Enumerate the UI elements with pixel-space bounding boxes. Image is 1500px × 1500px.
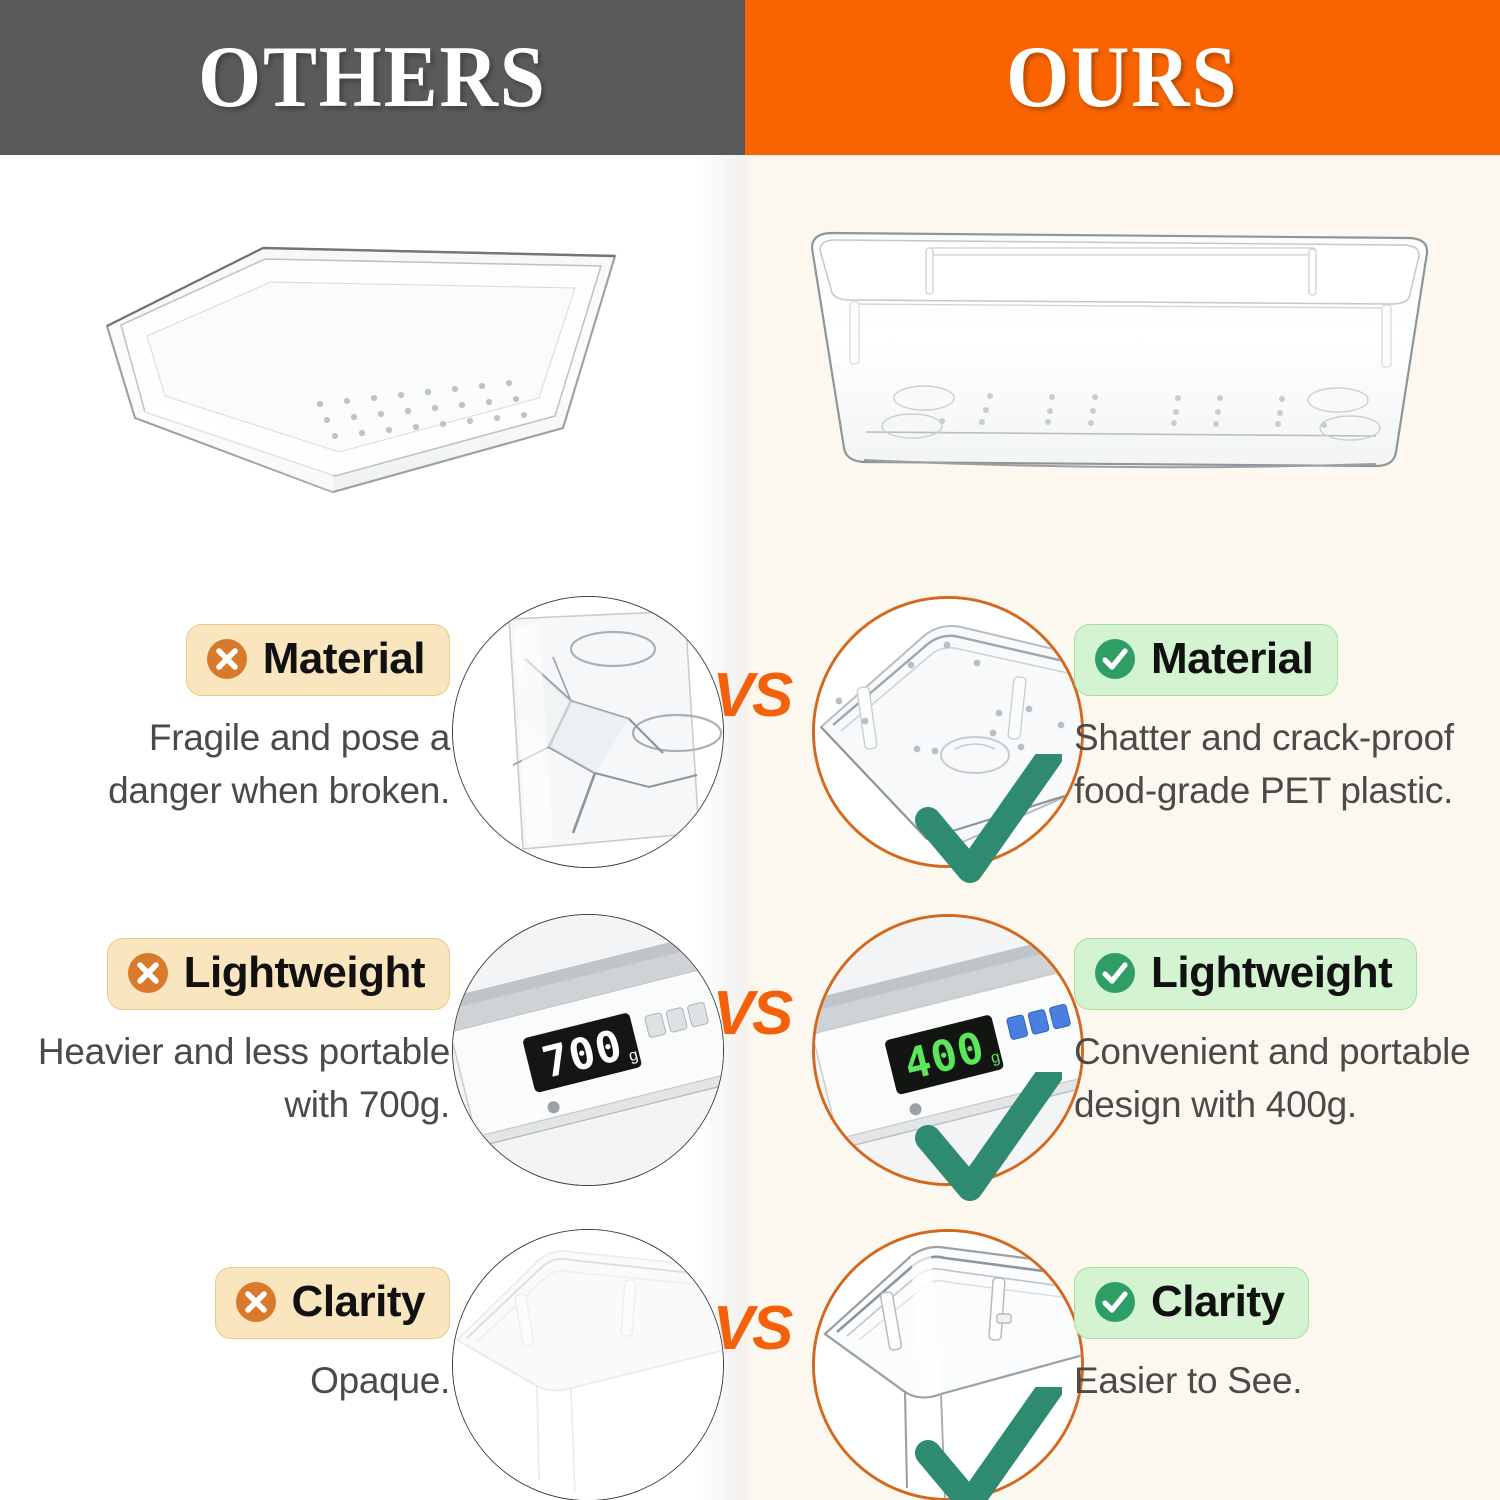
vs-label-material: VS [697,660,807,731]
clarity-others-text-block: Clarity Opaque. [30,1205,450,1500]
material-others-description: Fragile and pose a danger when broken. [30,712,450,817]
comparison-row-clarity: Clarity Opaque. [0,1205,1500,1500]
lightweight-ours-badge-label: Lightweight [1151,948,1392,998]
clarity-others-badge-label: Clarity [292,1277,425,1327]
comparison-row-material: Material Fragile and pose a danger when … [0,572,1500,892]
ours-product-image [790,220,1450,485]
circle-x-icon [126,951,170,995]
lightweight-others-description: Heavier and less portable with 700g. [30,1026,450,1131]
header-others: OTHERS [0,0,745,155]
hero-product-section [0,155,1500,585]
circle-check-icon [1093,637,1137,681]
material-ours-photo [812,596,1084,868]
comparison-infographic: OTHERS OURS [0,0,1500,1500]
clarity-ours-description: Easier to See. [1074,1355,1494,1408]
material-others-photo [452,596,724,868]
clarity-ours-badge-label: Clarity [1151,1277,1284,1327]
lightweight-ours-badge: Lightweight [1074,938,1417,1010]
vs-label-clarity: VS [697,1293,807,1364]
header-bar: OTHERS OURS [0,0,1500,155]
lightweight-others-badge: Lightweight [107,938,450,1010]
material-ours-description: Shatter and crack-proof food-grade PET p… [1074,712,1494,817]
circle-check-icon [1093,1280,1137,1324]
header-others-title: OTHERS [198,27,546,128]
lightweight-others-photo: 700 g [452,914,724,1186]
lightweight-others-text-block: Lightweight Heavier and less portable wi… [30,890,450,1210]
material-ours-badge: Material [1074,624,1338,696]
lightweight-ours-photo: 400 g [812,914,1084,1186]
clarity-ours-badge: Clarity [1074,1267,1309,1339]
circle-x-icon [234,1280,278,1324]
header-ours-title: OURS [1006,27,1238,128]
comparison-row-lightweight: Lightweight Heavier and less portable wi… [0,890,1500,1210]
circle-check-icon [1093,951,1137,995]
material-ours-text-block: Material Shatter and crack-proof food-gr… [1068,572,1488,892]
lightweight-ours-text-block: Lightweight Convenient and portable desi… [1068,890,1488,1210]
clarity-ours-text-block: Clarity Easier to See. [1068,1205,1488,1500]
clarity-others-photo [452,1229,724,1500]
clarity-others-description: Opaque. [30,1355,450,1408]
material-ours-badge-label: Material [1151,634,1313,684]
clarity-ours-photo [812,1229,1084,1500]
material-others-badge-label: Material [263,634,425,684]
lightweight-ours-description: Convenient and portable design with 400g… [1074,1026,1494,1131]
circle-x-icon [205,637,249,681]
header-ours: OURS [745,0,1500,155]
vs-label-lightweight: VS [697,978,807,1049]
clarity-others-badge: Clarity [215,1267,450,1339]
others-product-image [95,230,640,505]
material-others-text-block: Material Fragile and pose a danger when … [30,572,450,892]
material-others-badge: Material [186,624,450,696]
lightweight-others-badge-label: Lightweight [184,948,425,998]
